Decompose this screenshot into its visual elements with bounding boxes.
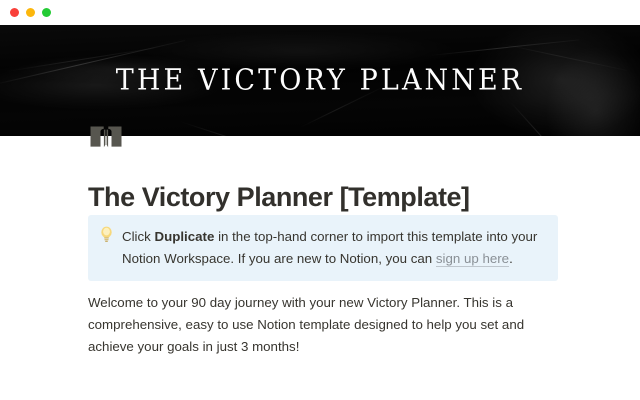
cover-banner-title: THE VICTORY PLANNER (116, 64, 525, 97)
lightbulb-icon (100, 226, 122, 269)
sign-up-here-link[interactable]: sign up here (436, 251, 509, 267)
callout-block[interactable]: Click Duplicate in the top-hand corner t… (88, 215, 558, 281)
window-close-button[interactable] (10, 8, 19, 17)
window-minimize-button[interactable] (26, 8, 35, 17)
callout-bold-word: Duplicate (155, 229, 215, 244)
app-window: THE VICTORY PLANNER The Victory Planner … (0, 0, 640, 400)
open-book-icon[interactable] (86, 118, 126, 158)
callout-text: Click Duplicate in the top-hand corner t… (122, 226, 544, 269)
window-maximize-button[interactable] (42, 8, 51, 17)
window-titlebar (0, 0, 640, 25)
callout-text-after: . (509, 251, 513, 266)
callout-text-before: Click (122, 229, 155, 244)
page-title: The Victory Planner [Template] (88, 136, 558, 213)
